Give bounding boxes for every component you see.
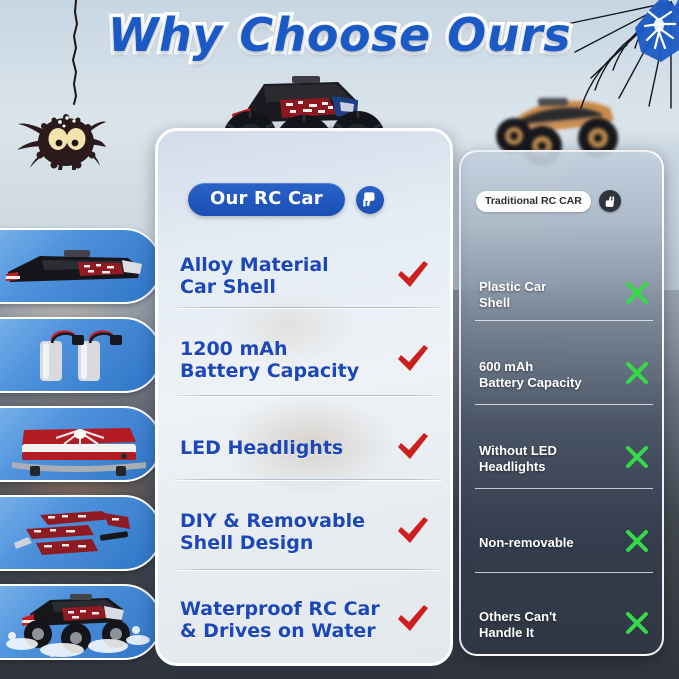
traditional-comparison-panel: Traditional RC CAR Plastic Car Shell — [459, 150, 664, 656]
table-row: Non-removable — [461, 508, 664, 578]
traditional-feature-2: 600 mAh Battery Capacity — [479, 359, 582, 391]
thumbs-up-icon — [356, 186, 384, 214]
thumbnail-strip — [0, 228, 162, 673]
table-row: Alloy Material Car Shell — [158, 239, 453, 313]
table-row: DIY & Removable Shell Design — [158, 495, 453, 569]
traditional-badge[interactable]: Traditional RC CAR — [476, 190, 621, 212]
check-icon — [396, 259, 430, 294]
traditional-feature-5: Others Can't Handle It — [479, 609, 557, 641]
divider — [174, 395, 442, 396]
traditional-feature-4: Non-removable — [479, 535, 574, 551]
cross-icon — [624, 528, 650, 559]
check-icon — [396, 515, 430, 550]
divider — [475, 320, 653, 321]
table-row: Others Can't Handle It — [461, 590, 664, 656]
cross-icon — [624, 280, 650, 311]
cross-icon — [624, 360, 650, 391]
thumbnail-removable-shell-parts[interactable] — [0, 495, 162, 571]
traditional-feature-3: Without LED Headlights — [479, 443, 557, 475]
divider — [174, 479, 442, 480]
ours-feature-4: DIY & Removable Shell Design — [180, 510, 365, 554]
cross-icon — [624, 610, 650, 641]
table-row: Waterproof RC Car & Drives on Water — [158, 583, 453, 657]
traditional-badge-label: Traditional RC CAR — [476, 191, 591, 212]
thumbnail-car-shell[interactable] — [0, 228, 162, 304]
ours-feature-1: Alloy Material Car Shell — [180, 254, 329, 298]
check-icon — [396, 603, 430, 638]
cross-icon — [624, 444, 650, 475]
thumbnail-led-headlights[interactable] — [0, 406, 162, 482]
check-icon — [396, 431, 430, 466]
ours-feature-5: Waterproof RC Car & Drives on Water — [180, 598, 380, 642]
traditional-feature-1: Plastic Car Shell — [479, 279, 546, 311]
thumbs-down-icon — [599, 190, 621, 212]
table-row: 1200 mAh Battery Capacity — [158, 323, 453, 397]
ours-feature-2: 1200 mAh Battery Capacity — [180, 338, 359, 382]
divider — [475, 572, 653, 573]
ours-comparison-panel: Our RC Car Alloy Material Car Shell — [155, 128, 453, 666]
ours-badge[interactable]: Our RC Car — [188, 183, 384, 216]
thumbnail-truck-on-water[interactable] — [0, 584, 162, 660]
ours-feature-3: LED Headlights — [180, 437, 343, 459]
divider — [475, 404, 653, 405]
page-title: Why Choose Ours — [0, 8, 679, 62]
divider — [174, 307, 442, 308]
thumbnail-batteries[interactable] — [0, 317, 162, 393]
table-row: 600 mAh Battery Capacity — [461, 340, 664, 410]
divider — [475, 488, 653, 489]
table-row: LED Headlights — [158, 411, 453, 485]
infographic-root: Traditional RC CAR Plastic Car Shell — [0, 0, 679, 679]
check-icon — [396, 343, 430, 378]
ours-badge-label: Our RC Car — [188, 183, 345, 216]
divider — [174, 569, 442, 570]
table-row: Without LED Headlights — [461, 424, 664, 494]
